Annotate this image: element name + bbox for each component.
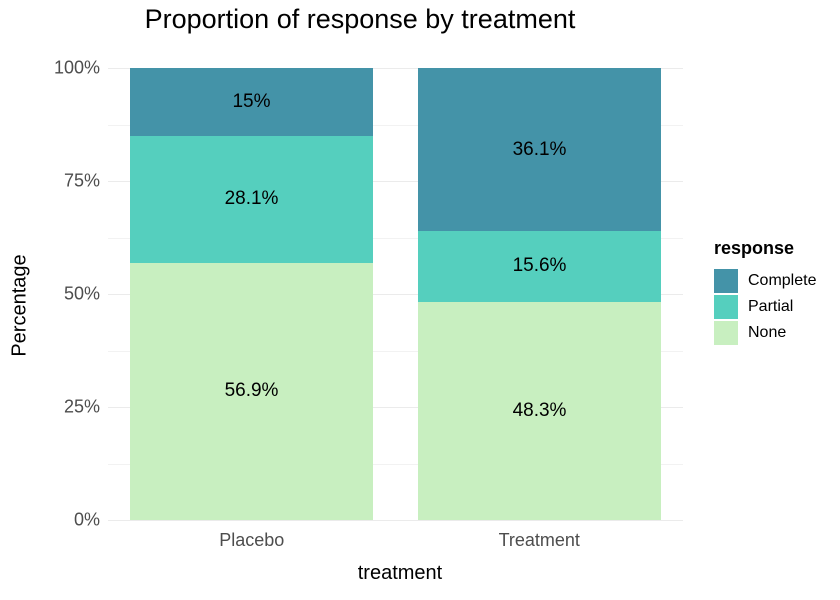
legend-color-swatch [714, 295, 738, 319]
legend-color-swatch [714, 269, 738, 293]
y-tick-label: 100% [40, 58, 100, 79]
y-tick-label: 0% [40, 510, 100, 531]
legend-item-label: None [748, 324, 786, 342]
x-tick-label: Treatment [499, 530, 580, 551]
bar-segment[interactable] [418, 231, 661, 302]
legend-item[interactable]: Partial [714, 295, 816, 319]
legend-color-swatch [714, 321, 738, 345]
bar-segment[interactable] [130, 68, 373, 136]
legend: response CompletePartialNone [714, 238, 816, 347]
y-tick-label: 75% [40, 171, 100, 192]
x-tick-label: Placebo [219, 530, 284, 551]
bar-segment[interactable] [130, 263, 373, 520]
legend-item-label: Complete [748, 272, 816, 290]
bar-group[interactable]: 56.9%28.1%15% [130, 68, 373, 520]
bar-segment[interactable] [130, 136, 373, 263]
chart-title: Proportion of response by treatment [0, 4, 720, 35]
x-axis-line [108, 520, 683, 521]
bar-segment[interactable] [418, 68, 661, 231]
y-tick-label: 50% [40, 284, 100, 305]
x-axis-title: treatment [100, 562, 700, 585]
bar-group[interactable]: 48.3%15.6%36.1% [418, 68, 661, 520]
y-axis-title: Percentage [9, 226, 32, 386]
y-axis-tick-labels: 0%25%50%75%100% [36, 68, 100, 520]
chart-figure: Proportion of response by treatment Perc… [0, 0, 840, 600]
legend-item-label: Partial [748, 298, 793, 316]
legend-title: response [714, 238, 816, 259]
plot-panel: 56.9%28.1%15%48.3%15.6%36.1% [108, 68, 683, 520]
legend-item[interactable]: Complete [714, 269, 816, 293]
y-tick-label: 25% [40, 397, 100, 418]
legend-item[interactable]: None [714, 321, 816, 345]
bar-segment[interactable] [418, 302, 661, 520]
legend-items: CompletePartialNone [714, 269, 816, 345]
